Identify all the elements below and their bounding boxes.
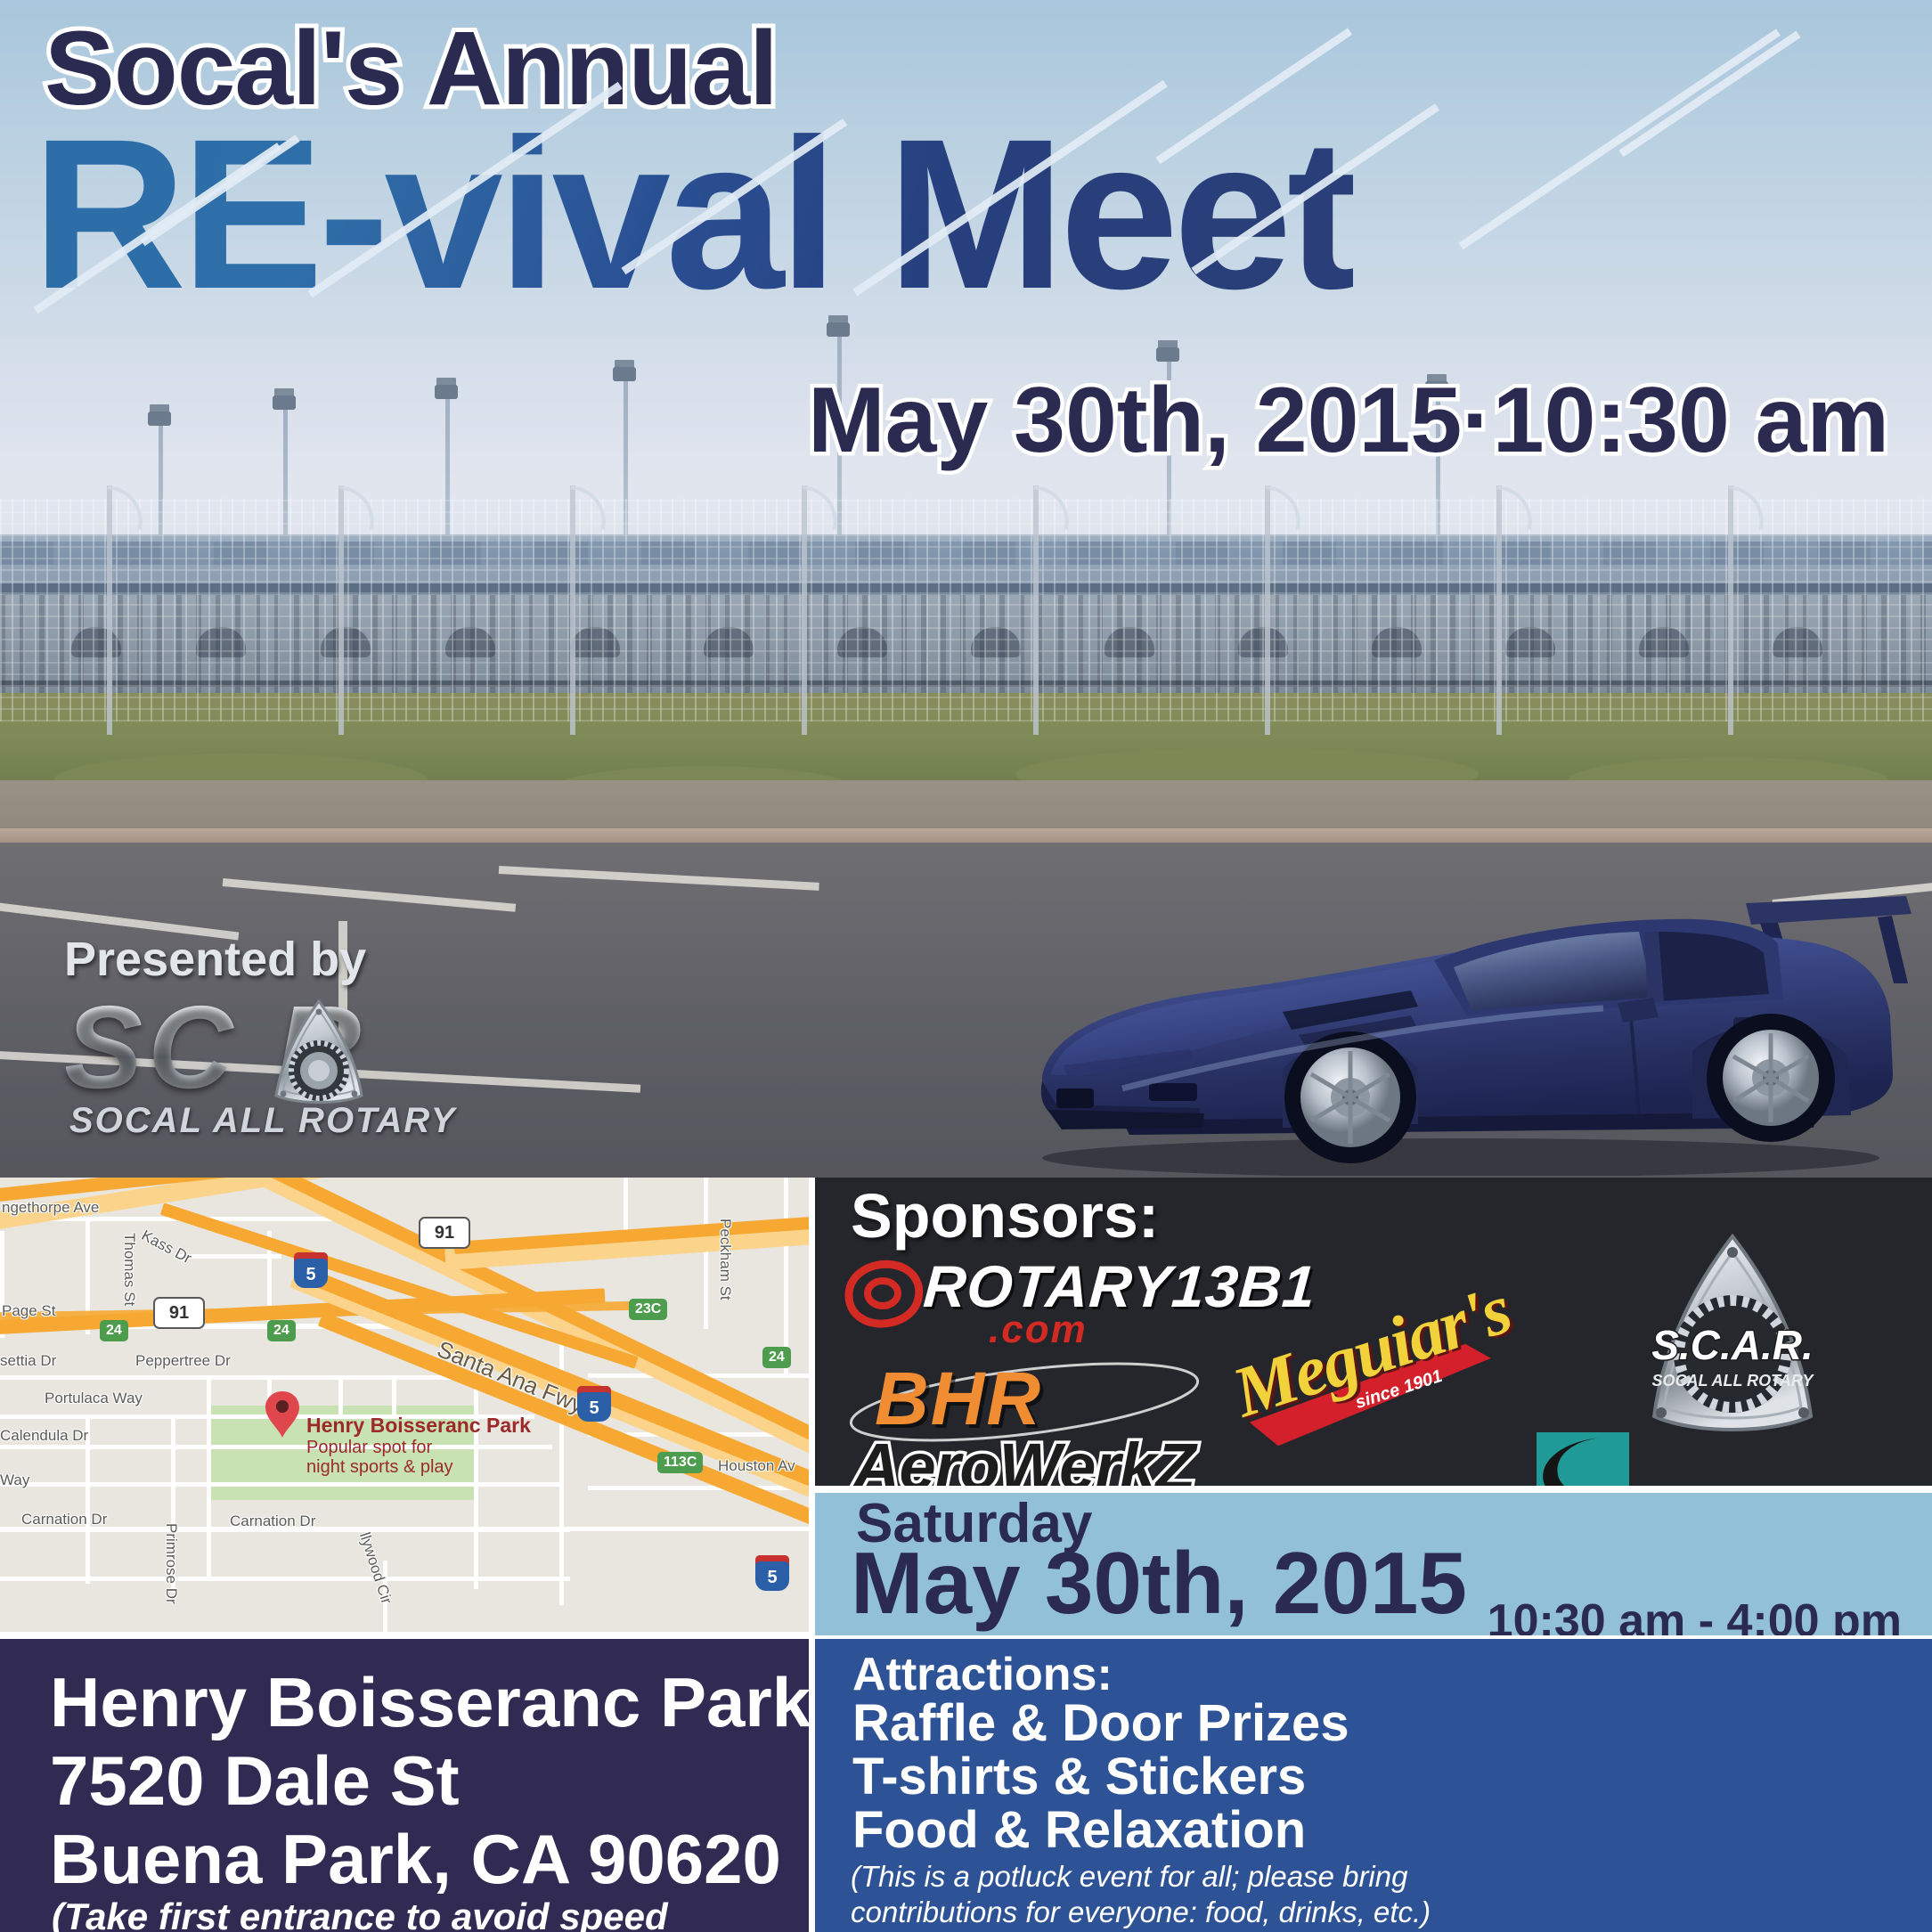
aerowerkz-mark-icon [1537,1432,1629,1486]
map-street-label: ngethorpe Ave [2,1199,99,1217]
attractions-panel: Attractions: Raffle & Door Prizes T-shir… [815,1639,1932,1932]
exit-badge: 23C [629,1299,667,1320]
map-park-callout: Henry Boisseranc Park Popular spot for n… [306,1414,531,1478]
interstate-shield-5: 5 [755,1555,789,1591]
location-map[interactable]: ngethorpe Ave Kass Dr Thomas St Page St … [0,1178,815,1632]
map-street-label: Thomas St [120,1233,138,1306]
panel-divider [809,1178,815,1932]
address-line-2: 7520 Dale St [50,1746,460,1815]
presenter-block: Presented by SC R [64,935,527,1140]
exit-badge: 24 [762,1347,791,1368]
svg-text:S.C.A.R.: S.C.A.R. [1651,1322,1813,1368]
attractions-note-line-1: (This is a potluck event for all; please… [851,1858,1407,1895]
schedule-date: May 30th, 2015 [851,1539,1467,1626]
attractions-note-line-2: contributions for everyone: food, drinks… [851,1894,1431,1931]
scar-tagline: SOCAL ALL ROTARY [69,1101,456,1141]
presented-by-label: Presented by [64,935,527,983]
exit-badge: 113C [657,1452,703,1473]
map-street-label: Page St [2,1302,56,1320]
svg-text:SOCAL ALL ROTARY: SOCAL ALL ROTARY [1651,1372,1814,1390]
catch-fence [0,499,1932,721]
attraction-item: Food & Relaxation [852,1805,1306,1856]
address-panel: Henry Boisseranc Park 7520 Dale St Buena… [0,1639,809,1932]
route-shield-91: 91 [153,1297,205,1329]
park-callout-line1: Popular spot for [306,1438,531,1457]
schedule-panel: Saturday May 30th, 2015 10:30 am - 4:00 … [815,1493,1932,1635]
sponsors-panel: Sponsors: ROTARY13B1 .com BHR Meguiar's … [815,1178,1932,1486]
map-street-label: Peppertree Dr [135,1352,231,1370]
rotor-eye-icon [842,1259,927,1329]
car-photo-subject [1015,891,1915,1176]
address-line-3: Buena Park, CA 90620 [50,1824,781,1894]
address-line-1: Henry Boisseranc Park [50,1667,811,1737]
light-pole-head [148,412,171,426]
sponsor-logo-scar: S.C.A.R. SOCAL ALL ROTARY [1617,1229,1848,1452]
map-street-label: Way [0,1471,29,1489]
panel-divider [815,1486,1932,1493]
rotor-triangle-icon [262,996,376,1110]
park-callout-title: Henry Boisseranc Park [306,1414,531,1438]
interstate-shield-5: 5 [577,1386,611,1422]
light-pole-head [1425,381,1448,395]
exit-badge: 24 [267,1320,296,1341]
sponsor-suffix-dotcom: .com [989,1308,1088,1352]
light-pole-head [273,395,296,410]
map-street-label: Peckham St [716,1219,734,1300]
event-flyer: Socal's Annual RE-vival Meet May 30th, 2… [0,0,1932,1932]
sky-background [0,0,1932,570]
sponsor-name-aerowerkz: AeroWerkZ [852,1434,1529,1486]
map-street-label: Carnation Dr [21,1511,107,1528]
sponsor-logo-aerowerkz: AeroWerkZ WE DO MORE THAN JUST WRAP [852,1434,1529,1486]
exit-badge: 24 [100,1320,128,1341]
panel-divider [0,1632,809,1639]
attraction-item: T-shirts & Stickers [852,1751,1306,1803]
attractions-title: Attractions: [852,1651,1113,1698]
map-street-label: Calendula Dr [0,1427,88,1445]
map-street-label: Portulaca Way [45,1390,143,1407]
map-street-label: Primrose Dr [162,1523,180,1604]
route-shield-91: 91 [419,1217,470,1249]
scar-logo: SC R [64,989,527,1140]
sponsor-logo-meguiars: Meguiar's since 1901 [1220,1268,1550,1455]
park-callout-line2: night sports & play [306,1457,531,1477]
light-pole-head [1156,347,1179,362]
map-street-label: Carnation Dr [230,1512,315,1530]
map-street-label: settia Dr [0,1352,56,1370]
sponsors-title: Sponsors: [851,1185,1159,1247]
map-street-label: Houston Av [718,1457,795,1475]
map-pin-icon[interactable] [264,1390,301,1439]
light-pole-head [613,367,636,381]
address-note: (Take first entrance to avoid speed bump… [52,1895,809,1932]
light-pole-head [827,322,850,337]
light-pole-head [435,385,458,399]
interstate-shield-5: 5 [294,1252,328,1288]
attraction-item: Raffle & Door Prizes [852,1698,1349,1749]
